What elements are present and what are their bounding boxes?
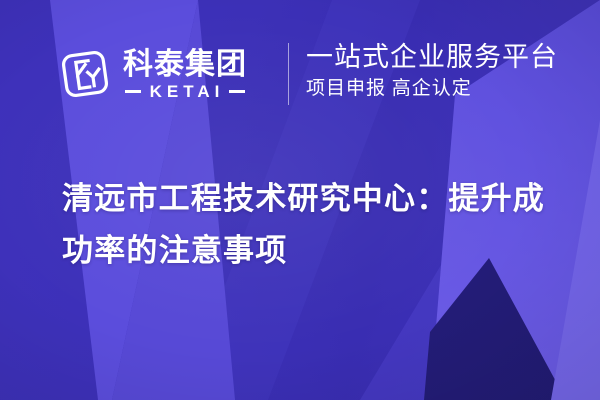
brand-wordmark: 科泰集团 KETAI [123, 49, 247, 100]
brand-logo-lockup[interactable]: 科泰集团 KETAI [58, 41, 247, 107]
header-vertical-divider [288, 43, 289, 105]
wordmark-rule-right-icon [229, 90, 245, 93]
ketai-kp-monogram-icon [58, 47, 112, 101]
tagline-secondary: 项目申报 高企认定 [306, 76, 558, 102]
wordmark-rule-left-icon [125, 90, 141, 93]
article-hero-banner: 科泰集团 KETAI 一站式企业服务平台 项目申报 高企认定 清远市工程技术研究… [0, 0, 600, 400]
brand-name-en-row: KETAI [123, 83, 247, 100]
brand-name-cn: 科泰集团 [123, 49, 247, 81]
brand-tagline-group: 一站式企业服务平台 项目申报 高企认定 [306, 40, 558, 102]
brand-name-en: KETAI [141, 83, 230, 100]
article-headline: 清远市工程技术研究中心：提升成功率的注意事项 [62, 173, 556, 277]
tagline-primary: 一站式企业服务平台 [306, 40, 558, 74]
